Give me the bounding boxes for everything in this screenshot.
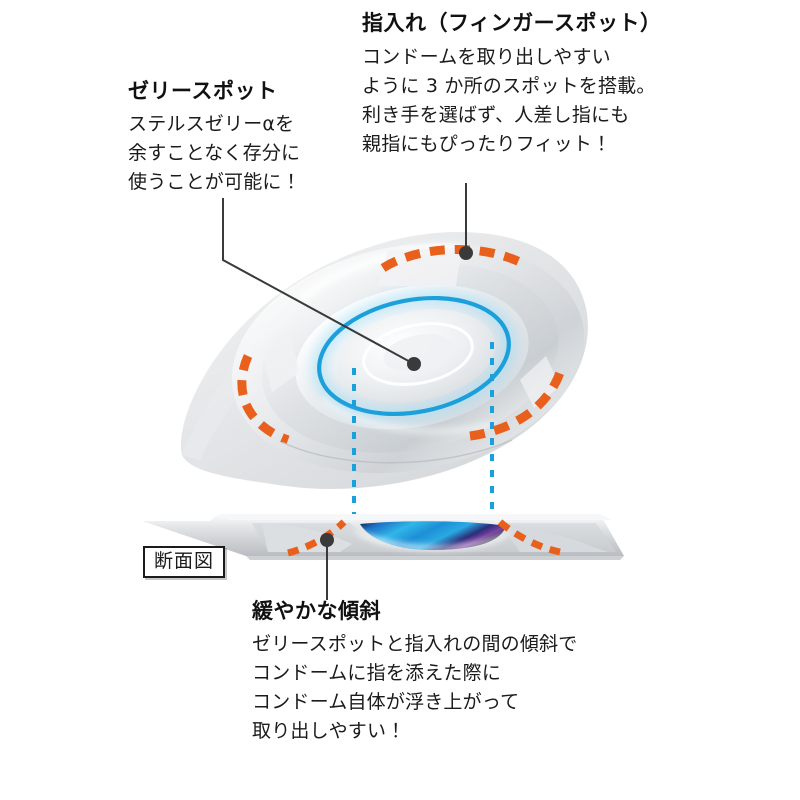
case-top-view — [181, 214, 604, 502]
text-line: 余すことなく存分に — [128, 139, 301, 168]
section-top-plate — [218, 514, 612, 520]
leader-dot-jelly — [407, 357, 421, 371]
text-line: ように 3 か所のスポットを搭載。 — [362, 72, 662, 101]
section-base-shade — [246, 556, 624, 560]
text-line: 親指にもぴったりフィット！ — [362, 130, 662, 159]
leader-dot-finger — [459, 246, 473, 260]
callout-gentle-slope-title: 緩やかな傾斜 — [252, 598, 577, 624]
callout-finger-spot-title: 指入れ（フィンガースポット） — [362, 10, 662, 36]
text-line: 使うことが可能に！ — [128, 168, 301, 197]
callout-finger-spot-body: コンドームを取り出しやすい ように 3 か所のスポットを搭載。 利き手を選ばず、… — [362, 43, 662, 159]
text-line: ステルスゼリーαを — [128, 110, 301, 139]
callout-gentle-slope: 緩やかな傾斜 ゼリースポットと指入れの間の傾斜で コンドームに指を添えた際に コ… — [252, 598, 577, 746]
text-line: 利き手を選ばず、人差し指にも — [362, 101, 662, 130]
text-line: コンドームに指を添えた際に — [252, 659, 577, 688]
text-line: コンドーム自体が浮き上がって — [252, 688, 577, 717]
callout-jelly-spot-body: ステルスゼリーαを 余すことなく存分に 使うことが可能に！ — [128, 110, 301, 197]
text-line: 取り出しやすい！ — [252, 717, 577, 746]
callout-finger-spot: 指入れ（フィンガースポット） コンドームを取り出しやすい ように 3 か所のスポ… — [362, 10, 662, 159]
leader-dot-slope — [320, 533, 334, 547]
text-line: ゼリースポットと指入れの間の傾斜で — [252, 630, 577, 659]
callout-jelly-spot: ゼリースポット ステルスゼリーαを 余すことなく存分に 使うことが可能に！ — [128, 78, 301, 197]
text-line: コンドームを取り出しやすい — [362, 43, 662, 72]
infographic-stage: ゼリースポット ステルスゼリーαを 余すことなく存分に 使うことが可能に！ 指入… — [0, 0, 800, 800]
callout-gentle-slope-body: ゼリースポットと指入れの間の傾斜で コンドームに指を添えた際に コンドーム自体が… — [252, 630, 577, 746]
cross-section-label: 断面図 — [143, 546, 225, 578]
callout-jelly-spot-title: ゼリースポット — [128, 78, 301, 104]
